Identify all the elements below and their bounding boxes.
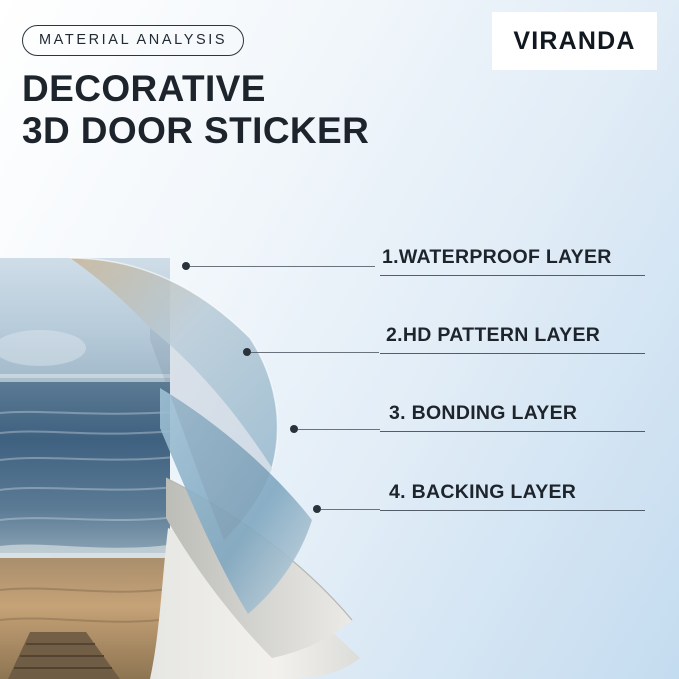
- callout-label-3: 3. BONDING LAYER: [389, 402, 577, 425]
- brand-name: VIRANDA: [513, 27, 635, 56]
- callout-leader-3: [298, 429, 380, 430]
- brand-logo-box: VIRANDA: [492, 12, 657, 70]
- callout-dot-1: [182, 262, 190, 270]
- callout-leader-1: [190, 266, 375, 267]
- callout-leader-4: [321, 509, 380, 510]
- callout-label-2: 2.HD PATTERN LAYER: [386, 324, 600, 347]
- callout-leader-2: [251, 352, 379, 353]
- callout-dot-4: [313, 505, 321, 513]
- callout-label-1: 1.WATERPROOF LAYER: [382, 246, 612, 269]
- callout-dot-2: [243, 348, 251, 356]
- callout-dot-3: [290, 425, 298, 433]
- title-line-2: 3D DOOR STICKER: [22, 110, 369, 152]
- callout-rule-3: [380, 431, 645, 432]
- peeling-sticker-illustration: [0, 228, 430, 679]
- kicker-badge: MATERIAL ANALYSIS: [22, 25, 244, 56]
- page-title: DECORATIVE 3D DOOR STICKER: [22, 68, 369, 152]
- callout-rule-4: [380, 510, 645, 511]
- poster-root: MATERIAL ANALYSIS DECORATIVE 3D DOOR STI…: [0, 0, 679, 679]
- title-line-1: DECORATIVE: [22, 68, 266, 109]
- callout-rule-1: [380, 275, 645, 276]
- callout-label-4: 4. BACKING LAYER: [389, 481, 576, 504]
- callout-rule-2: [380, 353, 645, 354]
